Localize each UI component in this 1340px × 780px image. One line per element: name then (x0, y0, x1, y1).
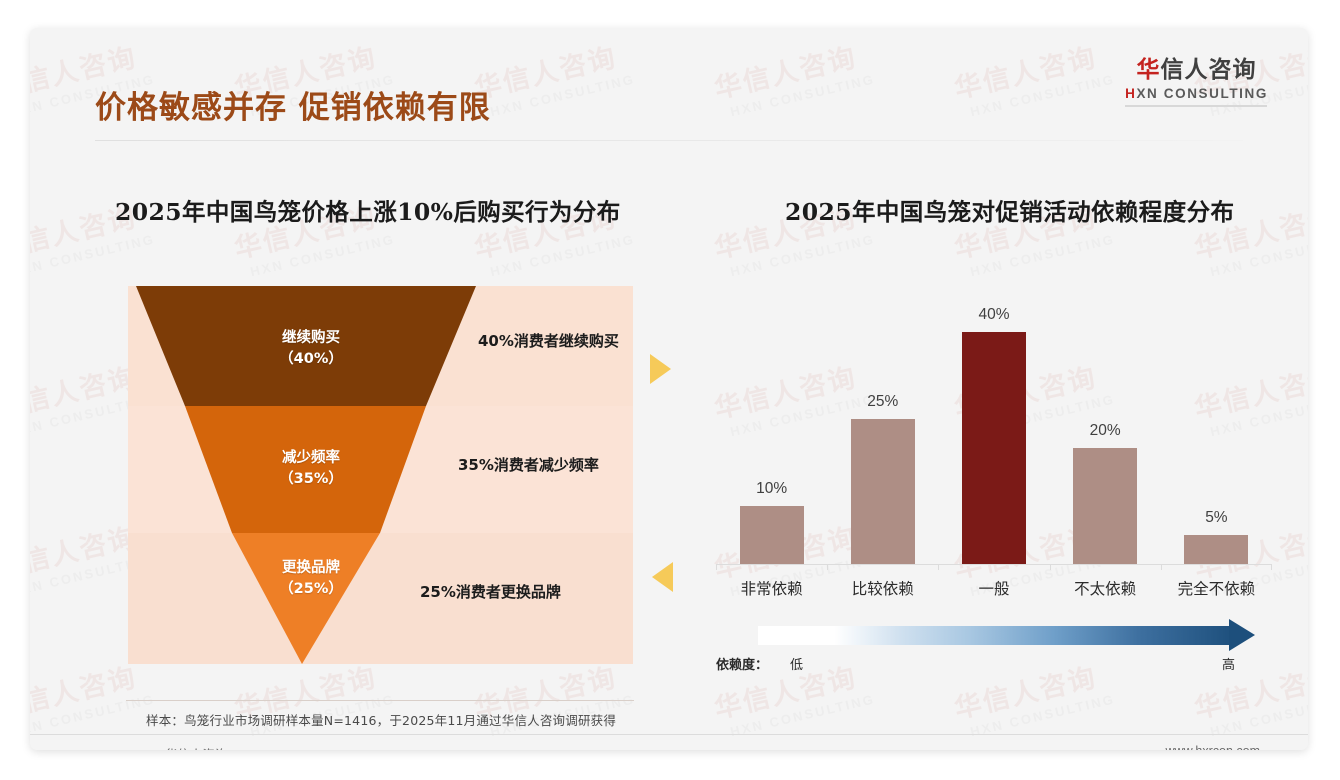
bar-column: 20% (1050, 286, 1161, 564)
slide-card: 华信人咨询HXN CONSULTING华信人咨询HXN CONSULTING华信… (30, 28, 1308, 750)
bar-chart: 10%25%40%20%5% 非常依赖比较依赖一般不太依赖完全不依赖 (716, 286, 1272, 606)
arrow-right-icon (650, 354, 671, 384)
axis-tick (1271, 564, 1272, 570)
bar-plot-area: 10%25%40%20%5% (716, 286, 1272, 564)
logo-english-accent: H (1125, 86, 1136, 101)
bar-column: 40% (938, 286, 1049, 564)
bar-category-label: 比较依赖 (827, 577, 938, 599)
bar-column: 5% (1161, 286, 1272, 564)
page-title: 价格敏感并存 促销依赖有限 (95, 82, 491, 127)
legend-low-label: 低 (790, 654, 803, 673)
bar-category-label: 非常依赖 (716, 577, 827, 599)
funnel-label-2: 更换品牌 （25%） (246, 558, 376, 600)
footer-copyright: ©2026.1 HXR华信人咨询 (78, 744, 227, 750)
bar-value-label: 5% (1205, 509, 1227, 527)
dependency-scale-legend: 依赖度： 低 高 (716, 626, 1272, 684)
axis-tick (938, 564, 939, 570)
bar-value-label: 10% (756, 480, 787, 498)
logo-underline (1125, 105, 1267, 107)
slide-header: 价格敏感并存 促销依赖有限 华信人咨询 HXN CONSULTING (30, 28, 1308, 128)
logo-chinese-accent: 华 (1137, 57, 1161, 83)
funnel-note-0: 40%消费者继续购买 (478, 330, 619, 351)
funnel-note-2: 25%消费者更换品牌 (420, 581, 561, 602)
bar-category-label: 一般 (938, 577, 1049, 599)
x-axis-line (716, 564, 1272, 565)
funnel-label-0: 继续购买 （40%） (246, 328, 376, 370)
bar (851, 419, 915, 564)
bar-value-label: 20% (1090, 422, 1121, 440)
bar (962, 332, 1026, 564)
bar (1184, 535, 1248, 564)
logo-english: HXN CONSULTING (1125, 86, 1268, 101)
funnel-label-1: 减少频率 （35%） (246, 448, 376, 490)
company-logo: 华信人咨询 HXN CONSULTING (1125, 58, 1268, 107)
header-divider (95, 140, 1243, 141)
footer-website: www.hxrcon.com (1166, 744, 1260, 750)
axis-tick (827, 564, 828, 570)
axis-tick (1161, 564, 1162, 570)
logo-chinese-rest: 信人咨询 (1161, 57, 1257, 83)
left-chart-title: 2025年中国鸟笼价格上涨10%后购买行为分布 (115, 193, 621, 227)
bar-value-label: 40% (978, 306, 1009, 324)
gradient-bar (758, 626, 1236, 645)
bar-column: 10% (716, 286, 827, 564)
bar-value-label: 25% (867, 393, 898, 411)
axis-tick (716, 564, 717, 570)
bar-column: 25% (827, 286, 938, 564)
funnel-chart: 继续购买 （40%） 减少频率 （35%） 更换品牌 （25%） 40%消费者继… (128, 286, 633, 664)
legend-title: 依赖度： (716, 654, 768, 673)
arrow-left-icon (652, 562, 673, 592)
logo-chinese: 华信人咨询 (1125, 58, 1268, 83)
bar-category-label: 不太依赖 (1050, 577, 1161, 599)
funnel-note-1: 35%消费者减少频率 (458, 454, 599, 475)
logo-english-rest: XN CONSULTING (1136, 86, 1268, 101)
axis-tick (1050, 564, 1051, 570)
watermark: 华信人咨询HXN CONSULTING (30, 652, 157, 741)
bar (1073, 448, 1137, 564)
right-chart-title: 2025年中国鸟笼对促销活动依赖程度分布 (785, 193, 1234, 227)
gradient-arrow-head-icon (1229, 619, 1255, 651)
footnote-divider (126, 700, 634, 701)
footnote-text: 样本：鸟笼行业市场调研样本量N=1416，于2025年11月通过华信人咨询调研获… (146, 710, 616, 729)
footer-divider (30, 734, 1308, 735)
bar-category-label: 完全不依赖 (1161, 577, 1272, 599)
legend-high-label: 高 (1222, 654, 1235, 673)
bar (740, 506, 804, 564)
